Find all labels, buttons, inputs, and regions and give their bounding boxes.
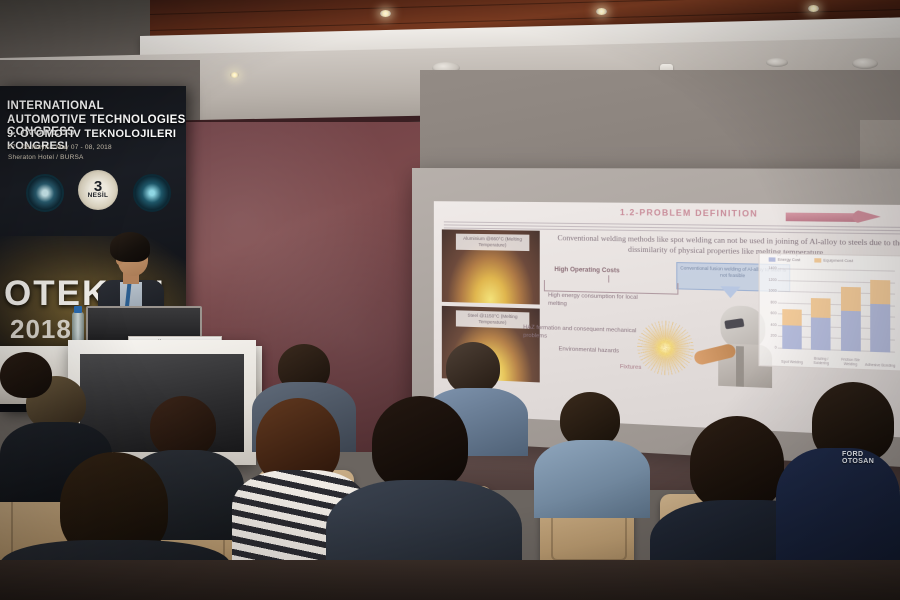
slide-arrow-icon	[786, 209, 881, 224]
chart-bar-segment-upper	[811, 298, 831, 318]
chart-y-tick: 200	[771, 334, 777, 338]
legend-item-1: Equipment Cost	[814, 258, 853, 263]
audience-head	[0, 352, 52, 398]
chart-bar-segment-lower	[870, 303, 890, 352]
ford-otosan-label: FORD OTOSAN	[842, 451, 894, 465]
downlight-icon	[380, 10, 391, 17]
chart-bar-segment-lower	[811, 318, 831, 351]
chart-bar-segment-lower	[841, 311, 861, 352]
chart-y-tick: 1400	[769, 266, 777, 270]
steel-caption: Steel @1150°C (Melting Temperature)	[456, 310, 529, 329]
chart-y-tick: 1200	[769, 277, 777, 281]
logo-number: 3	[94, 181, 102, 192]
chart-y-tick: 0	[775, 345, 777, 349]
banner-year: 2018	[10, 314, 72, 345]
chart-bar	[811, 270, 831, 350]
banner-venue: Sheraton Hotel / BURSA	[8, 154, 84, 161]
ceiling-speaker-icon	[766, 58, 788, 67]
down-arrow-icon	[720, 286, 740, 298]
chart-x-label: Brazing / Soldering	[806, 356, 836, 366]
welding-spark-icon	[637, 320, 694, 377]
chart-legend: Energy Cost Equipment Cost	[769, 257, 853, 263]
chart-x-label: Friction Stir Welding	[835, 357, 865, 367]
aluminium-caption: Aluminium @660°C (Melting Temperature)	[456, 234, 529, 251]
label-energy: High energy consumption for local meltin…	[548, 292, 648, 310]
floor	[0, 560, 900, 600]
legend-item-0: Energy Cost	[769, 257, 801, 262]
chart-y-tick: 600	[771, 311, 777, 315]
downlight-icon	[808, 5, 819, 12]
banner-line-1: INTERNATIONAL	[7, 100, 104, 112]
chart-y-tick: 400	[771, 323, 777, 327]
chart-bar-segment-upper	[870, 280, 890, 304]
chart-bar	[870, 271, 890, 352]
conference-room-photo: INTERNATIONAL AUTOMOTIVE TECHNOLOGIES CO…	[0, 0, 900, 600]
chart-y-tick: 1000	[769, 289, 777, 293]
slide-bar-chart: Energy Cost Equipment Cost 0200400600800…	[759, 253, 900, 372]
chart-plot-area: 0200400600800100012001400Spot WeldingBra…	[778, 269, 895, 352]
label-operating-costs: High Operating Costs	[554, 267, 619, 275]
university-seal-logo-icon	[26, 174, 64, 212]
audience-head	[446, 342, 500, 394]
chart-bar	[782, 269, 801, 349]
ceiling-speaker-icon	[852, 58, 878, 69]
chart-bar-segment-lower	[782, 325, 801, 349]
downlight-icon	[230, 72, 239, 78]
audience-head	[150, 396, 216, 458]
label-environment: Environmental hazards	[559, 346, 620, 354]
chart-x-label: Adhesive Bonding	[865, 363, 896, 368]
audience-shoulders	[534, 440, 650, 518]
downlight-icon	[596, 8, 607, 15]
chart-bar-segment-upper	[841, 287, 861, 312]
audience-head	[372, 396, 468, 490]
audience-shoulders	[776, 448, 900, 568]
third-generation-logo-icon: 3 NESİL	[78, 170, 118, 210]
bottle-cap	[74, 306, 82, 313]
association-seal-logo-icon	[133, 174, 171, 212]
chart-x-label: Spot Welding	[777, 359, 807, 364]
slide-title: 1.2-PROBLEM DEFINITION	[620, 208, 758, 219]
label-haz: HAZ formation and consequent mechanical …	[523, 325, 641, 344]
banner-date: 07 - 08 Mayıs / May 07 - 08, 2018	[8, 144, 112, 151]
audience-head	[690, 416, 784, 510]
ford-otosan-badge: FORD OTOSAN	[842, 452, 894, 463]
chart-bar	[841, 271, 861, 352]
logo-label: NESİL	[88, 192, 109, 199]
chart-bar-segment-upper	[782, 309, 801, 325]
chart-y-tick: 800	[771, 300, 777, 304]
